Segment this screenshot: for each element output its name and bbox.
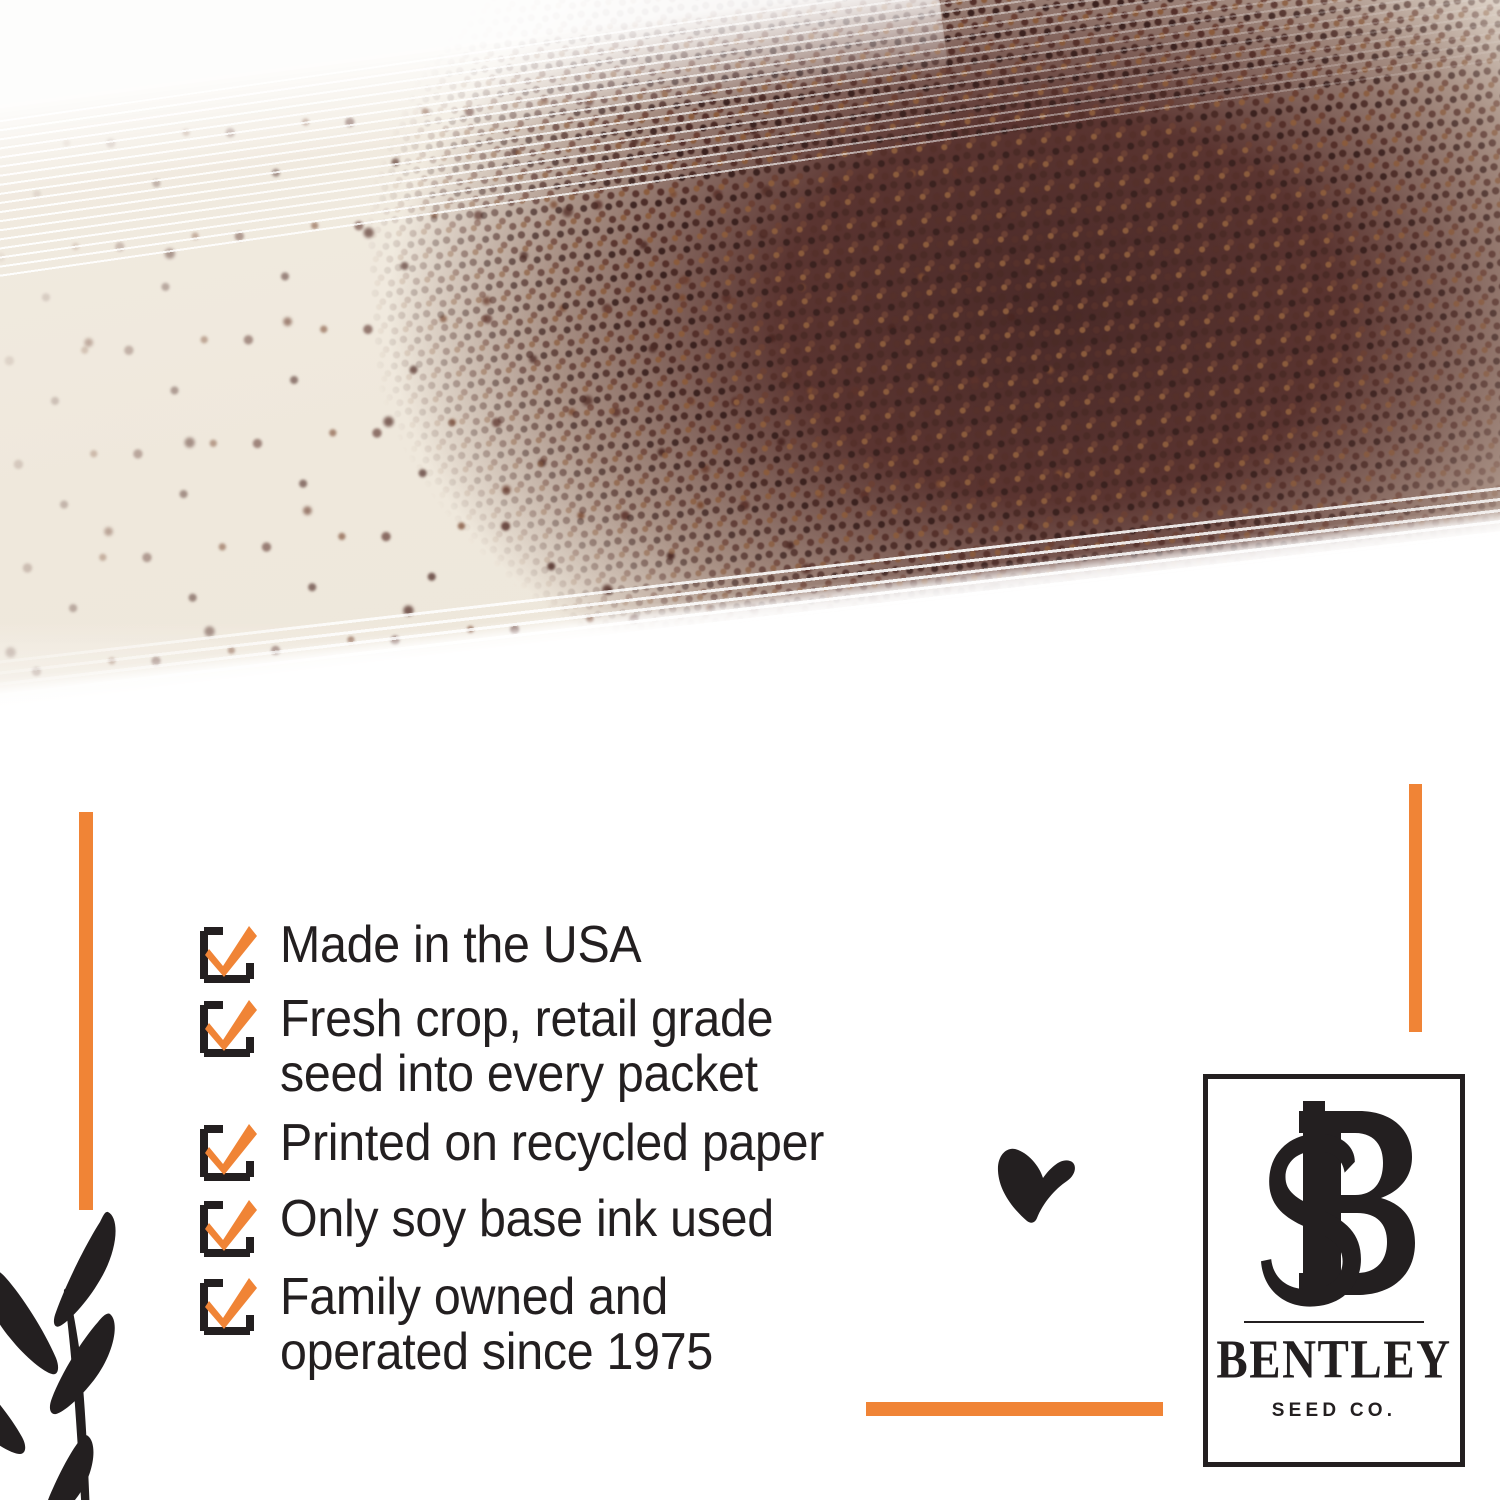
sb-monogram-icon	[1245, 1097, 1423, 1315]
list-item: Printed on recycled paper	[196, 1116, 996, 1184]
logo-subtitle: SEED CO.	[1272, 1400, 1396, 1422]
list-item: Only soy base ink used	[196, 1192, 996, 1260]
checkbox-checked-icon	[196, 1122, 258, 1184]
seed-photo	[0, 0, 1500, 905]
logo-divider	[1244, 1321, 1424, 1323]
horizontal-rule-bottom	[866, 1402, 1163, 1416]
checkbox-checked-icon	[196, 924, 258, 986]
checkbox-checked-icon	[196, 1198, 258, 1260]
list-item-label: Family owned and operated since 1975	[280, 1270, 713, 1380]
list-item-label: Only soy base ink used	[280, 1192, 774, 1247]
checkbox-checked-icon	[196, 1276, 258, 1338]
list-item: Fresh crop, retail grade seed into every…	[196, 992, 996, 1102]
list-item: Made in the USA	[196, 918, 996, 986]
vertical-rule-left	[79, 812, 93, 1210]
vertical-rule-right	[1409, 784, 1422, 1032]
plant-sprig-icon	[0, 1196, 190, 1500]
list-item-label: Made in the USA	[280, 918, 641, 973]
feature-checklist: Made in the USA Fresh crop, retail grade…	[196, 918, 996, 1386]
promo-card: Made in the USA Fresh crop, retail grade…	[0, 0, 1500, 1500]
list-item: Family owned and operated since 1975	[196, 1270, 996, 1380]
checkbox-checked-icon	[196, 998, 258, 1060]
list-item-label: Fresh crop, retail grade seed into every…	[280, 992, 773, 1102]
brush-fade-left	[0, 620, 420, 905]
brand-logo: BENTLEY SEED CO.	[1203, 1074, 1465, 1467]
heart-doodle-icon	[985, 1143, 1081, 1253]
logo-brand-name: BENTLEY	[1216, 1333, 1451, 1388]
list-item-label: Printed on recycled paper	[280, 1116, 824, 1171]
